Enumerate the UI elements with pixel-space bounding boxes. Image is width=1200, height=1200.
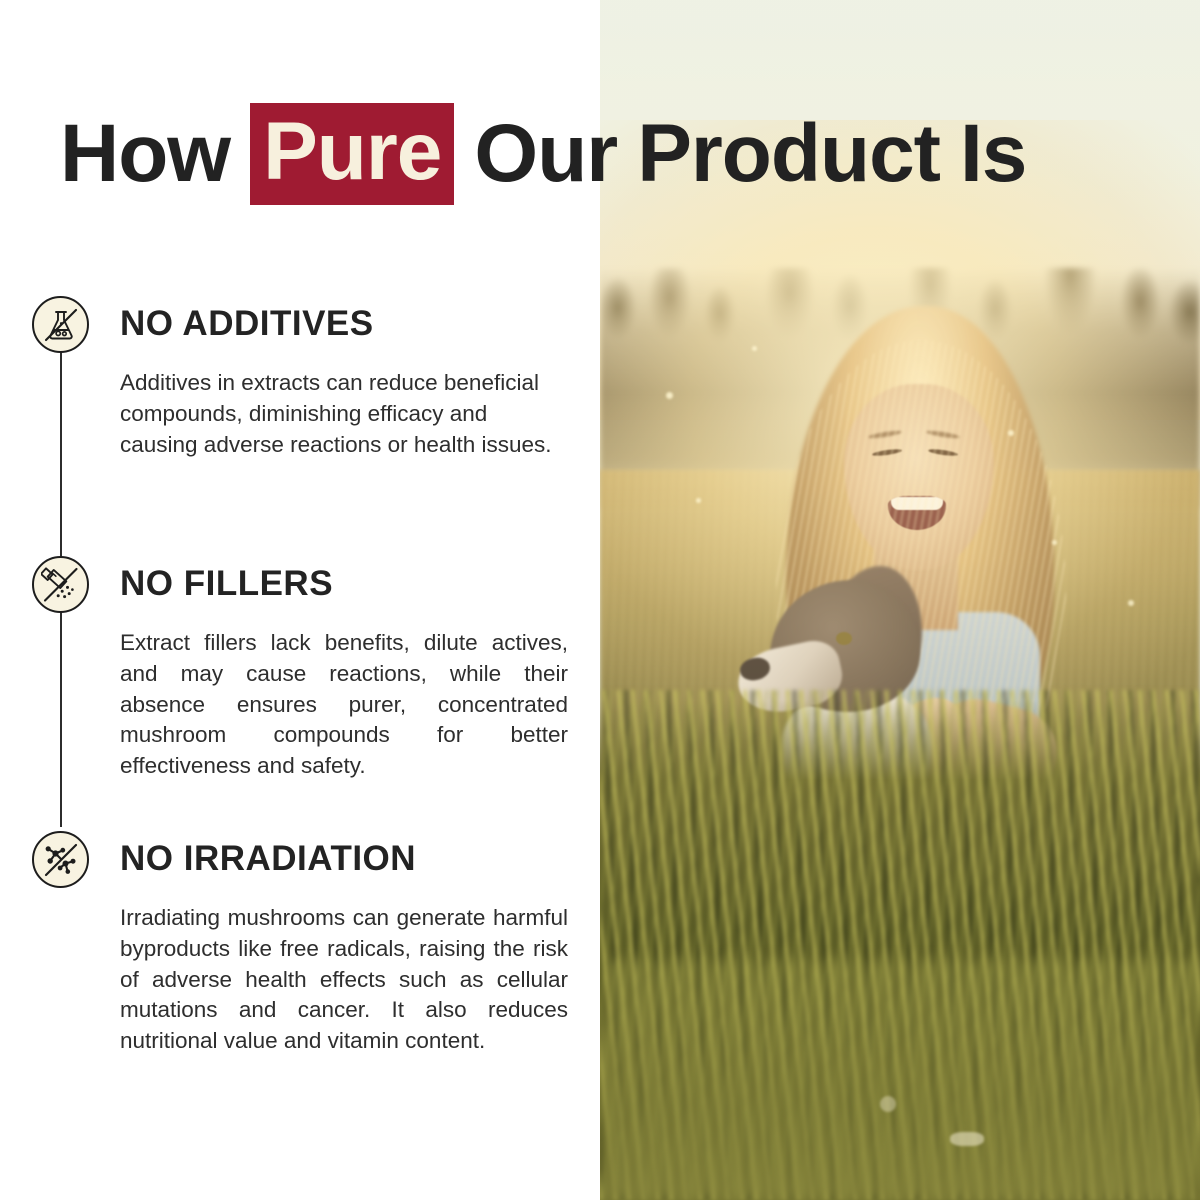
photo-bokeh-speck — [752, 346, 757, 351]
feature-heading: NO ADDITIVES — [120, 306, 374, 341]
connector-line-1 — [60, 352, 62, 557]
no-fillers-shaker-icon — [32, 556, 89, 613]
feature-heading: NO IRRADIATION — [120, 841, 416, 876]
photo-bokeh-speck — [880, 1096, 896, 1112]
feature-body: Irradiating mushrooms can generate harmf… — [120, 903, 568, 1057]
photo-bokeh-speck — [1128, 600, 1134, 606]
no-irradiation-molecule-icon — [32, 831, 89, 888]
feature-body: Extract fillers lack benefits, dilute ac… — [120, 628, 568, 782]
photo-bokeh-speck — [666, 392, 673, 399]
feature-body: Additives in extracts can reduce benefic… — [120, 368, 568, 460]
connector-line-2 — [60, 612, 62, 827]
photo-bokeh-speck — [1008, 430, 1014, 436]
feature-heading: NO FILLERS — [120, 566, 333, 601]
dog-eye — [836, 632, 852, 645]
photo-bokeh-speck — [950, 1132, 984, 1146]
title-word-is: Is — [960, 113, 1026, 195]
photo-bokeh-speck — [696, 498, 701, 503]
photo-grass-blades-blurred — [600, 960, 1200, 1200]
feature-list: NO ADDITIVES Additives in extracts can r… — [0, 0, 600, 1200]
title-word-product: Product — [637, 113, 940, 195]
no-additives-flask-icon — [32, 296, 89, 353]
photo-bokeh-speck — [1052, 540, 1057, 545]
infographic-canvas: How Pure Our Product Is — [0, 0, 1200, 1200]
